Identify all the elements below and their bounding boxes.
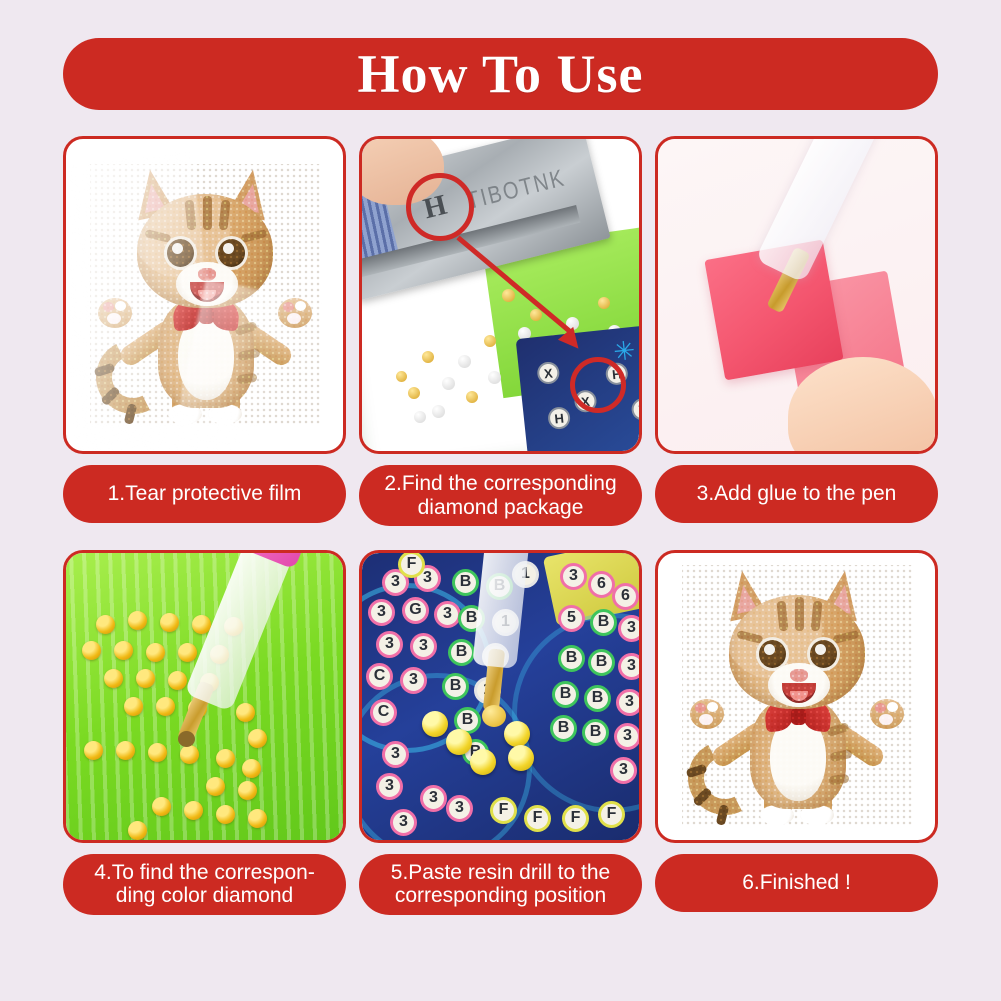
step-card-2: TIBOTNK H X X H H X ✳ — [359, 136, 642, 538]
steps-grid: 1.Tear protective film — [63, 136, 938, 926]
diamond-on-pen-tip — [482, 705, 506, 727]
step-card-5: 3 3 F B B 1 3 6 6 3 G 3 B 1 5 B 3 — [359, 550, 642, 927]
step-caption-5-line1: 5.Paste resin drill to the — [391, 861, 610, 884]
drill-pen-body — [472, 553, 531, 669]
step-card-3: 3.Add glue to the pen — [655, 136, 938, 538]
step-image-1 — [63, 136, 346, 454]
step-card-1: 1.Tear protective film — [63, 136, 346, 538]
step-image-5: 3 3 F B B 1 3 6 6 3 G 3 B 1 5 B 3 — [359, 550, 642, 843]
step-image-6 — [655, 550, 938, 843]
cat-nose-icon — [790, 669, 808, 682]
cat-paw-left-icon — [690, 699, 724, 729]
step-caption-4-line1: 4.To find the correspon- — [94, 861, 315, 884]
highlight-circle-packet-symbol — [406, 173, 474, 241]
step-image-2: TIBOTNK H X X H H X ✳ — [359, 136, 642, 454]
step-caption-2-line2: diamond package — [418, 496, 584, 519]
step-image-4 — [63, 550, 346, 843]
step-image-3 — [655, 136, 938, 454]
step-card-6: 6.Finished ! — [655, 550, 938, 927]
step-caption-5-line2: corresponding position — [395, 884, 606, 907]
snowflake-icon: ✳ — [612, 336, 639, 365]
page-title: How To Use — [357, 47, 643, 101]
cat-paw-right-icon — [870, 699, 904, 729]
step-card-4: 4.To find the correspon- ding color diam… — [63, 550, 346, 927]
highlight-circle-canvas-symbol — [570, 357, 626, 413]
step-caption-3: 3.Add glue to the pen — [655, 465, 938, 523]
step-caption-4: 4.To find the correspon- ding color diam… — [63, 854, 346, 915]
pen-wax-tip — [178, 731, 195, 747]
step-caption-1: 1.Tear protective film — [63, 465, 346, 523]
step-caption-4-line2: ding color diamond — [116, 884, 293, 907]
step-caption-2-line1: 2.Find the corresponding — [384, 472, 616, 495]
page-title-banner: How To Use — [63, 38, 938, 110]
step-caption-6: 6.Finished ! — [655, 854, 938, 912]
step-caption-2: 2.Find the corresponding diamond package — [359, 465, 642, 526]
cat-illustration-finished — [682, 565, 912, 827]
how-to-use-infographic: How To Use — [0, 0, 1001, 1001]
step-caption-5: 5.Paste resin drill to the corresponding… — [359, 854, 642, 915]
